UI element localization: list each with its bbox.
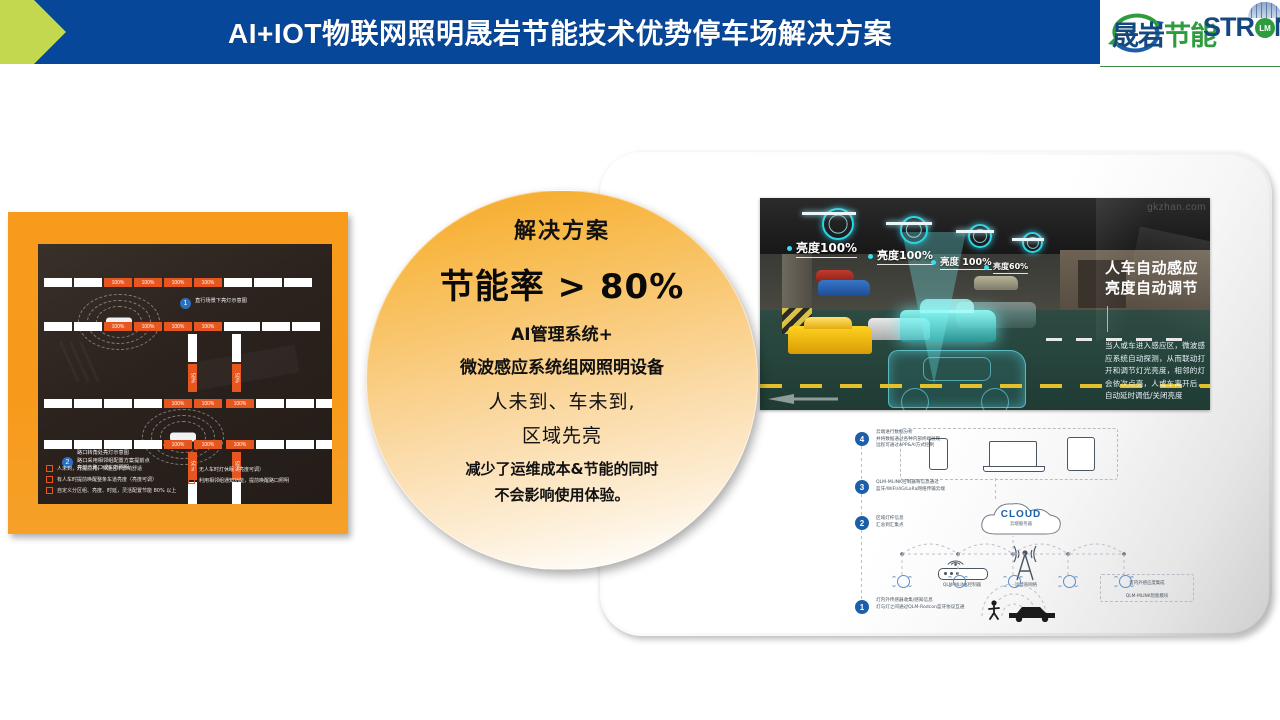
lamp-cell: 100% xyxy=(164,399,192,408)
car-yellow xyxy=(788,326,872,354)
bullet-marker xyxy=(46,465,53,472)
lamp-cell: 50% xyxy=(188,364,197,392)
lamp-bar-1 xyxy=(802,212,856,215)
cloud-sublabel: 云端服务器 xyxy=(978,521,1064,527)
lamp-cell: 100% xyxy=(194,322,222,331)
bullet-text: 有人车时提前唤醒整条车道亮度（亮度可调） xyxy=(57,476,157,483)
solution-highlight-ellipse: 解决方案 节能率 > 80% AI管理系统+ 微波感应系统组网照明设备 人未到、… xyxy=(366,190,758,570)
lamp-cell: 100% xyxy=(194,440,222,449)
lamp-vlane-1: 50% xyxy=(188,334,197,392)
lamp-ring-2 xyxy=(900,216,928,244)
lamp-label-4: 亮度60% xyxy=(993,261,1028,274)
lamp-lane-4: 100% 100% xyxy=(44,440,222,449)
lamp-label-2: 亮度100% xyxy=(877,247,933,265)
watermark: gkzhan.com xyxy=(1147,202,1206,213)
car-blue xyxy=(818,280,870,296)
lamp-cell: 100% xyxy=(194,278,222,287)
step-3-line2: 蓝牙/WIFI/4G/LoRa网络传输云端 xyxy=(876,487,945,494)
annotation-1-text: 直行场景下亮灯示意图 xyxy=(195,298,247,306)
ellipse-line-4: 区域先亮 xyxy=(522,421,602,448)
bullet-text: 利用相邻组通知功能，提前唤醒路口照明 xyxy=(199,477,289,484)
ellipse-line-5: 减少了运维成本&节能的同时 xyxy=(465,458,658,479)
lamp-ring-4 xyxy=(1022,232,1043,253)
sensor-node-1 xyxy=(891,574,913,590)
bullet-text: 自定义分区组、亮度、时延，灵活配置节能 80% 以上 xyxy=(57,487,176,494)
lamp-cell: 100% xyxy=(134,322,162,331)
sensor-node-4 xyxy=(1057,574,1079,590)
page-header: AI+IOT物联网照明晟岩节能技术优势停车场解决方案 晟岩节能 xyxy=(0,0,1280,68)
bullet-marker xyxy=(46,476,53,483)
bullet-text: 无人车时灯休眠（亮度可调） xyxy=(199,466,264,473)
page-title: AI+IOT物联网照明晟岩节能技术优势停车场解决方案 xyxy=(60,0,1060,64)
lamp-cell: 100% xyxy=(104,322,132,331)
lamp-cell: 50% xyxy=(232,364,241,392)
bullet-row: 无人车时灯休眠（亮度可调） xyxy=(188,466,332,473)
lamp-bar-2 xyxy=(886,222,932,225)
lamp-lane-3: 100% 100% xyxy=(44,399,222,408)
blue-panel-title: 人车自动感应 亮度自动调节 xyxy=(1105,258,1198,298)
module-callout-box: 灯内外感应度集成 QLM-MLINK智能模块 xyxy=(1100,574,1194,602)
ellipse-line-2: 微波感应系统组网照明设备 xyxy=(460,353,664,378)
step-2-line2: 汇总到汇集点 xyxy=(876,523,904,530)
ellipse-line-1: AI管理系统+ xyxy=(511,320,613,345)
lamp-cell: 100% xyxy=(226,440,254,449)
lamp-cell: 100% xyxy=(164,440,192,449)
cloud-icon: CLOUD 云端服务器 xyxy=(978,500,1064,538)
lamp-lane-2b xyxy=(232,322,320,331)
step-marker-3: 3 xyxy=(855,480,869,494)
bullet-row: 自定义分区组、亮度、时延，灵活配置节能 80% 以上 xyxy=(46,487,326,494)
blue-title-line1: 人车自动感应 xyxy=(1105,258,1198,278)
logo-strong-part1: STR xyxy=(1203,12,1254,42)
ellipse-line-6: 不会影响使用体验。 xyxy=(494,484,629,505)
annotation-2-line1: 路口转角处亮灯示意图 xyxy=(77,450,150,458)
pedestrian-icon xyxy=(986,600,1002,620)
lamp-bar-3 xyxy=(956,230,994,233)
bullet-marker xyxy=(188,466,195,473)
slide-root: AI+IOT物联网照明晟岩节能技术优势停车场解决方案 晟岩节能 xyxy=(0,0,1280,720)
lamp-cell: 100% xyxy=(104,278,132,287)
logo-cn-text: 晟岩节能 xyxy=(1112,14,1216,53)
bullet-row: 利用相邻组通知功能，提前唤醒路口照明 xyxy=(188,477,332,484)
lamp-cell: 100% xyxy=(226,399,254,408)
bullet-marker xyxy=(188,477,195,484)
lamp-lane-2: 100% 100% 100% 100% xyxy=(44,322,252,331)
step-marker-4: 4 xyxy=(855,432,869,446)
step-4-line3: 远程可通过APP&AI方式控制 xyxy=(876,443,934,450)
feature-bullets-right: 无人车时灯休眠（亮度可调） 利用相邻组通知功能，提前唤醒路口照明 xyxy=(188,466,332,488)
sensor-node-2 xyxy=(947,574,969,590)
blue-title-line2: 亮度自动调节 xyxy=(1105,278,1198,298)
step-1-line2: 灯与灯之间通过QLM-Rodcon蓝牙协议互通 xyxy=(876,605,964,612)
bullet-marker xyxy=(46,487,53,494)
logo-o-badge: LM xyxy=(1255,18,1275,38)
radar-detection-2 xyxy=(142,409,224,465)
lamp-bar-4 xyxy=(1012,238,1044,241)
ellipse-heading: 解决方案 xyxy=(514,213,610,245)
lamp-lane-1: 100% 100% 100% 100% xyxy=(44,278,312,287)
lamp-ring-3 xyxy=(968,224,992,248)
blue-info-panel: gkzhan.com 人车自动感应 亮度自动调节 当人或车进入感应区，微波感应系… xyxy=(1096,198,1210,410)
network-topology-diagram: 4 云端进行数据分析 并将数据通过各种内部终端展现 远程可通过APP&AI方式控… xyxy=(828,424,1248,628)
ellipse-line-3: 人未到、车未到, xyxy=(488,387,635,414)
tablet-icon xyxy=(1067,437,1095,471)
step-marker-1: 1 xyxy=(855,600,869,614)
cloud-label: CLOUD xyxy=(978,509,1064,520)
blue-panel-body: 当人或车进入感应区，微波感应系统自动探测，从而联动打开和调节灯光亮度，相邻的灯会… xyxy=(1105,340,1205,403)
wireframe-car-icon xyxy=(888,350,1026,408)
lamp-cell: 100% xyxy=(164,322,192,331)
annotation-1: 1 直行场景下亮灯示意图 xyxy=(180,298,247,309)
module-callout-line1: 灯内外感应度集成 xyxy=(1101,575,1193,588)
parking-layout-diagram: 100% 100% 100% 100% 1 直行场景下亮灯示意图 100% xyxy=(38,244,332,504)
module-callout-line2: QLM-MLINK智能模块 xyxy=(1101,588,1193,601)
divider xyxy=(1107,306,1108,332)
car-grey xyxy=(974,276,1018,290)
company-logo: 晟岩节能 STRONG LM ® 强流明照明 xyxy=(1100,0,1280,67)
laptop-icon xyxy=(989,441,1037,467)
logo-cn-dark: 晟岩 xyxy=(1112,21,1164,52)
lamp-cell: 100% xyxy=(194,399,222,408)
lamp-lane-4b: 100% xyxy=(226,440,332,449)
ellipse-headline: 节能率 > 80% xyxy=(440,259,685,308)
lamp-cell: 100% xyxy=(134,278,162,287)
car-icon xyxy=(1006,604,1058,622)
lamp-lane-3b: 100% xyxy=(226,399,332,408)
bullet-text: 人未到，灯提前亮，节能且不影响舒适 xyxy=(57,465,142,472)
step-marker-2: 2 xyxy=(855,516,869,530)
lamp-vlane-2: 50% xyxy=(232,334,241,392)
left-orange-panel: 100% 100% 100% 100% 1 直行场景下亮灯示意图 100% xyxy=(8,212,348,534)
lamp-label-1: 亮度100% xyxy=(796,239,857,258)
annotation-1-number: 1 xyxy=(180,298,191,309)
lamp-cell: 100% xyxy=(164,278,192,287)
